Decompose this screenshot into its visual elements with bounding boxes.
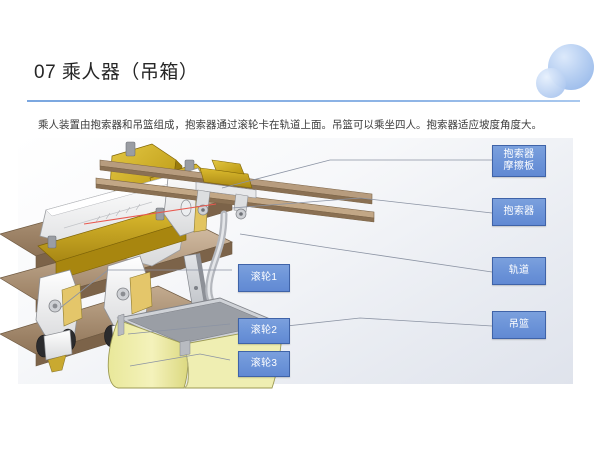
- label-gondola[interactable]: 吊篮: [492, 311, 546, 339]
- subtitle-text: 乘人装置由抱索器和吊篮组成，抱索器通过滚轮卡在轨道上面。吊篮可以乘坐四人。抱索器…: [38, 118, 568, 132]
- header-decoration: [510, 40, 600, 102]
- label-roller-2[interactable]: 滚轮2: [238, 318, 290, 344]
- label-grip[interactable]: 抱索器: [492, 198, 546, 226]
- page-title: 07 乘人器（吊箱）: [34, 57, 198, 84]
- gondola-hanger-arm: [209, 214, 224, 312]
- label-grip-friction-plate[interactable]: 抱索器 摩擦板: [492, 145, 546, 177]
- label-roller-1[interactable]: 滚轮1: [238, 264, 290, 292]
- label-track[interactable]: 轨道: [492, 257, 546, 285]
- roller-assembly-1: [36, 270, 82, 372]
- label-line-1: 抱索器: [504, 149, 535, 161]
- illustration-area: 滚轮1 滚轮2 滚轮3 抱索器 摩擦板 抱索器 轨道 吊篮: [0, 138, 600, 388]
- label-roller-3[interactable]: 滚轮3: [238, 351, 290, 377]
- small-blue-circle-icon: [536, 68, 566, 98]
- title-divider: [27, 100, 580, 102]
- label-line-2: 摩擦板: [504, 161, 535, 173]
- slide-root: 07 乘人器（吊箱） 乘人装置由抱索器和吊篮组成，抱索器通过滚轮卡在轨道上面。吊…: [0, 0, 600, 450]
